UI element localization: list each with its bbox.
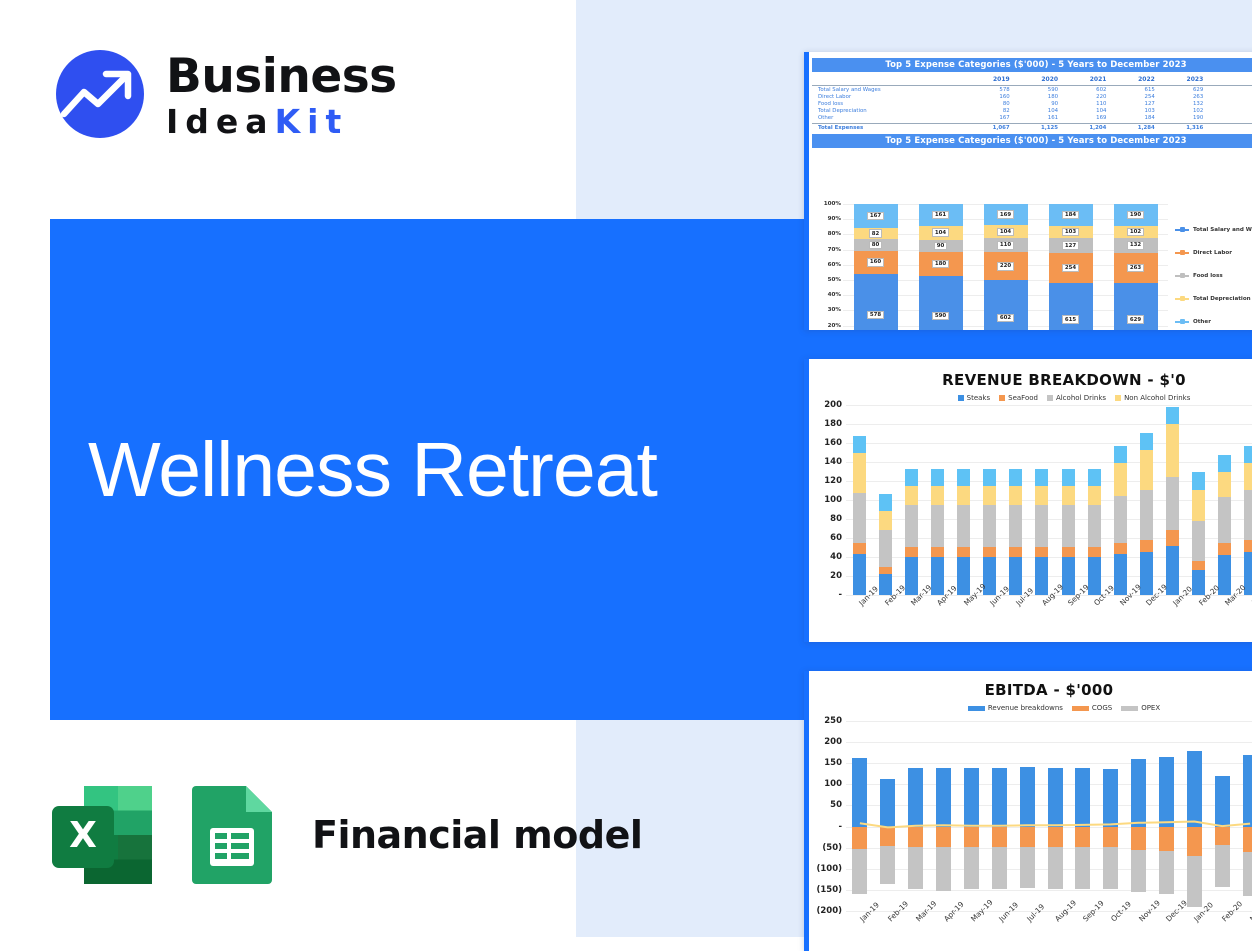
bar-column[interactable] bbox=[1035, 405, 1048, 595]
bar-segment bbox=[1215, 776, 1230, 827]
bar-segment bbox=[879, 574, 892, 595]
bar-segment bbox=[992, 827, 1007, 847]
bar-value-label: 132 bbox=[1127, 241, 1144, 250]
legend-item: Revenue breakdowns bbox=[968, 704, 1063, 712]
page-title: Wellness Retreat bbox=[88, 426, 657, 515]
brand-logo: Business IdeaKit bbox=[54, 46, 474, 146]
legend-item: Total Salary and Wag bbox=[1175, 218, 1252, 241]
bar-segment bbox=[1114, 463, 1127, 496]
bar-segment bbox=[964, 827, 979, 847]
bar-column[interactable] bbox=[1020, 721, 1035, 911]
bar-segment-top bbox=[905, 469, 918, 486]
row-value: 102 bbox=[1158, 108, 1206, 115]
bar-segment bbox=[1159, 757, 1174, 827]
bar-value-label: 629 bbox=[1127, 315, 1144, 324]
bar-segment bbox=[1218, 543, 1231, 555]
row-value: 180 bbox=[1013, 93, 1061, 100]
bar-value-label: 167 bbox=[867, 212, 884, 221]
bar-segment bbox=[1131, 759, 1146, 827]
bar-segment: 220 bbox=[984, 252, 1028, 280]
bar-column[interactable] bbox=[1166, 405, 1179, 595]
brand-idea-text: Idea bbox=[166, 102, 275, 141]
axis-tick: 70% bbox=[828, 247, 841, 253]
ebitda-y-axis: (200)(150)(100)(50)-50100150200250 bbox=[808, 721, 842, 911]
bar-value-label: 82 bbox=[869, 229, 883, 238]
bar-segment bbox=[964, 847, 979, 889]
bar-segment-top bbox=[1035, 469, 1048, 486]
bar-segment bbox=[1244, 463, 1252, 490]
bar-segment bbox=[957, 557, 970, 595]
bar-segment bbox=[908, 827, 923, 847]
bar-segment bbox=[957, 486, 970, 505]
bar-segment bbox=[936, 768, 951, 826]
bar-segment: 184 bbox=[1049, 204, 1093, 226]
bar-segment bbox=[1244, 540, 1252, 552]
table-row: Total Salary and Wages578590602615629 bbox=[812, 86, 1252, 94]
axis-tick: 30% bbox=[828, 307, 841, 313]
bar-value-label: 263 bbox=[1127, 264, 1144, 273]
axis-tick: 120 bbox=[824, 476, 842, 486]
bar-segment bbox=[1192, 561, 1205, 571]
bar-segment bbox=[1035, 547, 1048, 557]
bar-segment bbox=[1166, 424, 1179, 477]
axis-tick: 200 bbox=[824, 400, 842, 410]
row-label: Total Salary and Wages bbox=[812, 86, 964, 94]
bar-column[interactable] bbox=[1218, 405, 1231, 595]
bar-segment-top bbox=[879, 494, 892, 511]
bar-value-label: 190 bbox=[1127, 211, 1144, 220]
bar-column[interactable] bbox=[879, 405, 892, 595]
expenses-banner-top: Top 5 Expense Categories ($'000) - 5 Yea… bbox=[812, 58, 1252, 72]
bar-value-label: 127 bbox=[1062, 241, 1079, 250]
bar-segment-top bbox=[1218, 455, 1231, 472]
bar-segment bbox=[992, 768, 1007, 826]
bar-segment bbox=[1192, 490, 1205, 521]
bar-segment bbox=[983, 547, 996, 557]
bar-segment bbox=[1009, 505, 1022, 547]
bar-segment-top bbox=[1062, 469, 1075, 486]
bar-column[interactable] bbox=[1140, 405, 1153, 595]
bar-column[interactable] bbox=[1075, 721, 1090, 911]
bar-segment bbox=[1062, 547, 1075, 557]
row-value: 167 bbox=[964, 115, 1012, 123]
bar-value-label: 602 bbox=[997, 314, 1014, 323]
bar-segment bbox=[957, 505, 970, 547]
row-value: 184 bbox=[1109, 115, 1157, 123]
legend-label: COGS bbox=[1092, 704, 1112, 712]
bar-segment bbox=[1035, 486, 1048, 505]
bar-segment bbox=[908, 768, 923, 826]
row-value: 1,204 bbox=[1061, 123, 1109, 131]
bar-segment bbox=[879, 567, 892, 575]
bar-column[interactable] bbox=[931, 405, 944, 595]
row-value: 1,316 bbox=[1158, 123, 1206, 131]
brand-kit-text: Kit bbox=[275, 102, 349, 141]
bar-column[interactable] bbox=[1192, 405, 1205, 595]
bar-column[interactable]: 59018090104161 bbox=[919, 204, 963, 330]
axis-tick: (100) bbox=[816, 864, 842, 874]
bar-segment: 127 bbox=[1049, 238, 1093, 253]
legend-label: Non Alcohol Drinks bbox=[1124, 394, 1190, 402]
axis-tick: 150 bbox=[824, 758, 842, 768]
legend-label: Alcohol Drinks bbox=[1056, 394, 1106, 402]
legend-swatch bbox=[1121, 706, 1138, 711]
row-value: 161 bbox=[1013, 115, 1061, 123]
bar-column[interactable] bbox=[1009, 405, 1022, 595]
bar-segment bbox=[983, 486, 996, 505]
bar-value-label: 184 bbox=[1062, 211, 1079, 220]
bar-value-label: 102 bbox=[1127, 228, 1144, 237]
axis-tick: 250 bbox=[824, 716, 842, 726]
bar-column[interactable] bbox=[1062, 405, 1075, 595]
bar-segment bbox=[1159, 827, 1174, 851]
axis-tick: 60% bbox=[828, 262, 841, 268]
bar-segment bbox=[1035, 557, 1048, 595]
ebitda-chart-title: EBITDA - $'000 bbox=[834, 681, 1252, 699]
row-value: 103 bbox=[1109, 108, 1157, 115]
axis-tick: 200 bbox=[824, 737, 842, 747]
google-sheets-icon bbox=[184, 784, 284, 886]
legend-swatch bbox=[1175, 275, 1189, 277]
row-value: 132 bbox=[1158, 100, 1206, 107]
legend-swatch bbox=[1115, 395, 1121, 401]
bar-value-label: 254 bbox=[1062, 264, 1079, 273]
bar-segment bbox=[1159, 851, 1174, 894]
legend-item: Non Alcohol Drinks bbox=[1115, 394, 1190, 402]
bar-segment: 104 bbox=[919, 226, 963, 240]
axis-tick: 80% bbox=[828, 231, 841, 237]
bar-column[interactable] bbox=[908, 721, 923, 911]
bar-segment bbox=[1009, 557, 1022, 595]
bar-segment bbox=[1187, 827, 1202, 857]
bar-column[interactable] bbox=[992, 721, 1007, 911]
bar-segment bbox=[1020, 847, 1035, 888]
bar-segment-top bbox=[1140, 433, 1153, 450]
bar-segment bbox=[1244, 490, 1252, 540]
footer-label: Financial model bbox=[312, 813, 642, 857]
bar-column[interactable] bbox=[1215, 721, 1230, 911]
expenses-plot-area: 5781608082167201959018090104161202060222… bbox=[843, 204, 1168, 330]
bar-column[interactable] bbox=[983, 405, 996, 595]
legend-label: Direct Labor bbox=[1193, 250, 1232, 256]
bar-value-label: 160 bbox=[867, 258, 884, 267]
axis-tick: (150) bbox=[816, 885, 842, 895]
bar-segment: 615 bbox=[1049, 283, 1093, 330]
bar-value-label: 590 bbox=[932, 312, 949, 321]
ebitda-legend: Revenue breakdownsCOGSOPEX bbox=[864, 704, 1252, 712]
bar-column[interactable]: 615254127103184 bbox=[1049, 204, 1093, 330]
legend-item: Total Depreciation bbox=[1175, 287, 1252, 310]
bar-segment bbox=[1009, 486, 1022, 505]
bar-column[interactable] bbox=[936, 721, 951, 911]
row-value: 1,284 bbox=[1109, 123, 1157, 131]
bar-segment: 629 bbox=[1114, 283, 1158, 330]
axis-tick: 100% bbox=[824, 201, 841, 207]
bar-segment: 254 bbox=[1049, 253, 1093, 283]
microsoft-excel-icon: X bbox=[50, 784, 170, 886]
axis-tick: 50 bbox=[830, 800, 842, 810]
legend-label: Steaks bbox=[967, 394, 991, 402]
axis-tick: 100 bbox=[824, 779, 842, 789]
bar-segment: 80 bbox=[854, 239, 898, 250]
legend-label: OPEX bbox=[1141, 704, 1160, 712]
bar-value-label: 104 bbox=[932, 228, 949, 237]
footer-row: X Financial model bbox=[50, 784, 642, 886]
gridline bbox=[846, 911, 1252, 912]
legend-swatch bbox=[1175, 252, 1189, 254]
bar-segment bbox=[905, 505, 918, 547]
bar-segment: 263 bbox=[1114, 253, 1158, 283]
row-value: 220 bbox=[1061, 93, 1109, 100]
screenshot-revenue[interactable]: REVENUE BREAKDOWN - $'0 SteaksSeaFoodAlc… bbox=[804, 359, 1252, 642]
bar-value-label: 80 bbox=[869, 241, 883, 250]
col-2020: 2020 bbox=[1013, 72, 1061, 86]
bar-segment bbox=[1048, 827, 1063, 847]
bar-column[interactable] bbox=[852, 721, 867, 911]
row-value: 160 bbox=[964, 93, 1012, 100]
table-header-row: 2019 2020 2021 2022 2023 bbox=[812, 72, 1252, 86]
bar-value-label: 180 bbox=[932, 260, 949, 269]
row-value: 263 bbox=[1158, 93, 1206, 100]
bar-segment-top bbox=[853, 436, 866, 453]
bar-segment: 82 bbox=[854, 228, 898, 240]
bar-segment bbox=[1114, 496, 1127, 543]
legend-label: Total Salary and Wag bbox=[1193, 227, 1252, 233]
bar-segment bbox=[905, 486, 918, 505]
revenue-plot-area bbox=[846, 405, 1252, 595]
axis-tick: 140 bbox=[824, 457, 842, 467]
legend-item: Food loss bbox=[1175, 264, 1252, 287]
row-value: 104 bbox=[1061, 108, 1109, 115]
legend-swatch bbox=[1175, 321, 1189, 323]
table-row: Total Depreciation82104104103102 bbox=[812, 108, 1252, 115]
bar-segment bbox=[931, 486, 944, 505]
bar-segment bbox=[957, 547, 970, 557]
bar-segment: 160 bbox=[854, 251, 898, 274]
bar-segment: 103 bbox=[1049, 226, 1093, 238]
bar-segment bbox=[1103, 827, 1118, 847]
expenses-y-axis: 0%10%20%30%40%50%60%70%80%90%100% bbox=[815, 204, 841, 330]
bar-column[interactable] bbox=[853, 405, 866, 595]
bar-segment-top bbox=[1192, 472, 1205, 489]
bar-value-label: 90 bbox=[934, 242, 948, 251]
row-value: 90 bbox=[1013, 100, 1061, 107]
bar-segment bbox=[1075, 827, 1090, 847]
bar-segment bbox=[853, 554, 866, 595]
bar-segment bbox=[1048, 847, 1063, 889]
bar-segment-top bbox=[1009, 469, 1022, 486]
bar-segment bbox=[1166, 477, 1179, 530]
row-label: Total Depreciation bbox=[812, 108, 964, 115]
axis-tick: 160 bbox=[824, 438, 842, 448]
bar-segment bbox=[852, 758, 867, 827]
axis-tick: (50) bbox=[822, 843, 842, 853]
legend-item: Steaks bbox=[958, 394, 991, 402]
bar-column[interactable] bbox=[905, 405, 918, 595]
bar-segment bbox=[1088, 505, 1101, 547]
bar-value-label: 103 bbox=[1062, 228, 1079, 237]
bar-value-label: 104 bbox=[997, 228, 1014, 237]
axis-tick: 20% bbox=[828, 323, 841, 329]
screenshot-expenses[interactable]: Top 5 Expense Categories ($'000) - 5 Yea… bbox=[804, 52, 1252, 330]
bar-segment bbox=[852, 827, 867, 849]
legend-swatch bbox=[1175, 298, 1189, 300]
bar-segment bbox=[1020, 767, 1035, 826]
bar-segment bbox=[936, 847, 951, 891]
bar-column[interactable] bbox=[880, 721, 895, 911]
bar-column[interactable] bbox=[1088, 405, 1101, 595]
growth-arrow-logo-icon bbox=[54, 48, 146, 140]
bar-segment bbox=[1075, 768, 1090, 826]
bar-segment bbox=[1009, 547, 1022, 557]
bar-segment bbox=[880, 779, 895, 827]
bar-column[interactable] bbox=[964, 721, 979, 911]
bar-segment-top bbox=[1244, 446, 1252, 463]
bar-segment: 167 bbox=[854, 204, 898, 228]
table-total-row: Total Expenses1,0671,1251,2041,2841,316 bbox=[812, 123, 1252, 131]
legend-item: Direct Labor bbox=[1175, 241, 1252, 264]
row-value: 82 bbox=[964, 108, 1012, 115]
axis-tick: 180 bbox=[824, 419, 842, 429]
bar-segment bbox=[1114, 543, 1127, 554]
bar-segment bbox=[931, 505, 944, 547]
bar-column[interactable] bbox=[1103, 721, 1118, 911]
bar-segment bbox=[879, 530, 892, 566]
bar-column[interactable] bbox=[1114, 405, 1127, 595]
legend-swatch bbox=[1175, 229, 1189, 231]
ebitda-plot-area bbox=[846, 721, 1252, 911]
axis-tick: 60 bbox=[830, 533, 842, 543]
row-value: 578 bbox=[964, 86, 1012, 94]
bar-column[interactable] bbox=[1048, 721, 1063, 911]
bar-segment bbox=[1020, 827, 1035, 847]
legend-swatch bbox=[968, 706, 985, 711]
bar-segment bbox=[853, 493, 866, 542]
bar-column[interactable] bbox=[1187, 721, 1202, 911]
bar-segment bbox=[879, 511, 892, 530]
row-value: 615 bbox=[1109, 86, 1157, 94]
col-2021: 2021 bbox=[1061, 72, 1109, 86]
row-label: Total Expenses bbox=[812, 123, 964, 131]
expenses-legend: Total Salary and WagDirect LaborFood los… bbox=[1175, 218, 1252, 330]
bar-value-label: 169 bbox=[997, 210, 1014, 219]
bar-segment bbox=[931, 547, 944, 557]
bar-segment bbox=[1218, 497, 1231, 543]
bar-segment bbox=[853, 453, 866, 493]
bar-segment: 132 bbox=[1114, 238, 1158, 253]
bar-segment bbox=[1215, 845, 1230, 886]
bar-segment-top bbox=[1114, 446, 1127, 463]
bar-segment bbox=[1103, 769, 1118, 827]
bar-column[interactable] bbox=[1131, 721, 1146, 911]
bar-segment bbox=[1140, 450, 1153, 490]
brand-wordmark: Business IdeaKit bbox=[166, 52, 397, 142]
bar-segment: 169 bbox=[984, 204, 1028, 225]
legend-swatch bbox=[1047, 395, 1053, 401]
bar-segment bbox=[1243, 755, 1252, 827]
bar-segment bbox=[1140, 490, 1153, 540]
bar-column[interactable] bbox=[957, 405, 970, 595]
legend-label: SeaFood bbox=[1008, 394, 1038, 402]
bar-segment bbox=[853, 543, 866, 554]
bar-segment-top bbox=[1088, 469, 1101, 486]
axis-tick: 50% bbox=[828, 277, 841, 283]
row-label: Other bbox=[812, 115, 964, 123]
bar-segment bbox=[1166, 530, 1179, 545]
row-value: 80 bbox=[964, 100, 1012, 107]
row-label: Direct Labor bbox=[812, 93, 964, 100]
revenue-y-axis: -20406080100120140160180200 bbox=[808, 405, 842, 595]
legend-swatch bbox=[1072, 706, 1089, 711]
bar-segment: 180 bbox=[919, 252, 963, 276]
row-value: 254 bbox=[1109, 93, 1157, 100]
bar-segment bbox=[1131, 827, 1146, 851]
legend-label: Food loss bbox=[1193, 273, 1223, 279]
bar-segment bbox=[936, 827, 951, 847]
legend-item: Alcohol Drinks bbox=[1047, 394, 1106, 402]
bar-segment: 102 bbox=[1114, 226, 1158, 238]
bar-segment: 161 bbox=[919, 204, 963, 226]
bar-segment bbox=[992, 847, 1007, 889]
bar-segment: 90 bbox=[919, 240, 963, 252]
expenses-banner-bottom: Top 5 Expense Categories ($'000) - 5 Yea… bbox=[812, 134, 1252, 148]
legend-swatch bbox=[958, 395, 964, 401]
bar-segment bbox=[1187, 751, 1202, 827]
bar-value-label: 615 bbox=[1062, 315, 1079, 324]
bar-segment: 104 bbox=[984, 225, 1028, 238]
row-value: 169 bbox=[1061, 115, 1109, 123]
bar-segment: 110 bbox=[984, 238, 1028, 252]
axis-tick: - bbox=[838, 822, 842, 832]
screenshot-ebitda[interactable]: EBITDA - $'000 Revenue breakdownsCOGSOPE… bbox=[804, 671, 1252, 951]
row-label: Food loss bbox=[812, 100, 964, 107]
bar-segment bbox=[1088, 486, 1101, 505]
bar-column[interactable] bbox=[1243, 721, 1252, 911]
expenses-stacked-chart[interactable]: 0%10%20%30%40%50%60%70%80%90%100% 578160… bbox=[809, 204, 1252, 330]
bar-value-label: 110 bbox=[997, 241, 1014, 250]
axis-tick: 100 bbox=[824, 495, 842, 505]
bar-segment-top bbox=[1166, 407, 1179, 424]
bar-segment bbox=[1192, 521, 1205, 561]
bar-segment bbox=[1218, 472, 1231, 497]
legend-item: OPEX bbox=[1121, 704, 1160, 712]
expenses-table: 2019 2020 2021 2022 2023 Total Salary an… bbox=[812, 72, 1252, 132]
axis-tick: 90% bbox=[828, 216, 841, 222]
row-value: 1,125 bbox=[1013, 123, 1061, 131]
bar-column[interactable]: 5781608082167 bbox=[854, 204, 898, 330]
bar-segment bbox=[1192, 570, 1205, 595]
brand-line-2: IdeaKit bbox=[166, 102, 397, 142]
legend-item: COGS bbox=[1072, 704, 1112, 712]
bar-column[interactable] bbox=[1159, 721, 1174, 911]
bar-segment bbox=[1035, 505, 1048, 547]
bar-segment bbox=[1103, 847, 1118, 889]
row-value: 190 bbox=[1158, 115, 1206, 123]
row-value: 590 bbox=[1013, 86, 1061, 94]
bar-column[interactable] bbox=[1244, 405, 1252, 595]
brand-line-1: Business bbox=[166, 52, 397, 102]
bar-column[interactable]: 602220110104169 bbox=[984, 204, 1028, 330]
col-2019: 2019 bbox=[964, 72, 1012, 86]
table-row: Direct Labor160180220254263 bbox=[812, 93, 1252, 100]
axis-tick: 80 bbox=[830, 514, 842, 524]
col-2023: 2023 bbox=[1158, 72, 1206, 86]
row-value: 1,067 bbox=[964, 123, 1012, 131]
bar-segment bbox=[1243, 852, 1252, 896]
bar-segment bbox=[1215, 827, 1230, 846]
axis-tick: 40% bbox=[828, 292, 841, 298]
bar-column[interactable]: 629263132102190 bbox=[1114, 204, 1158, 330]
